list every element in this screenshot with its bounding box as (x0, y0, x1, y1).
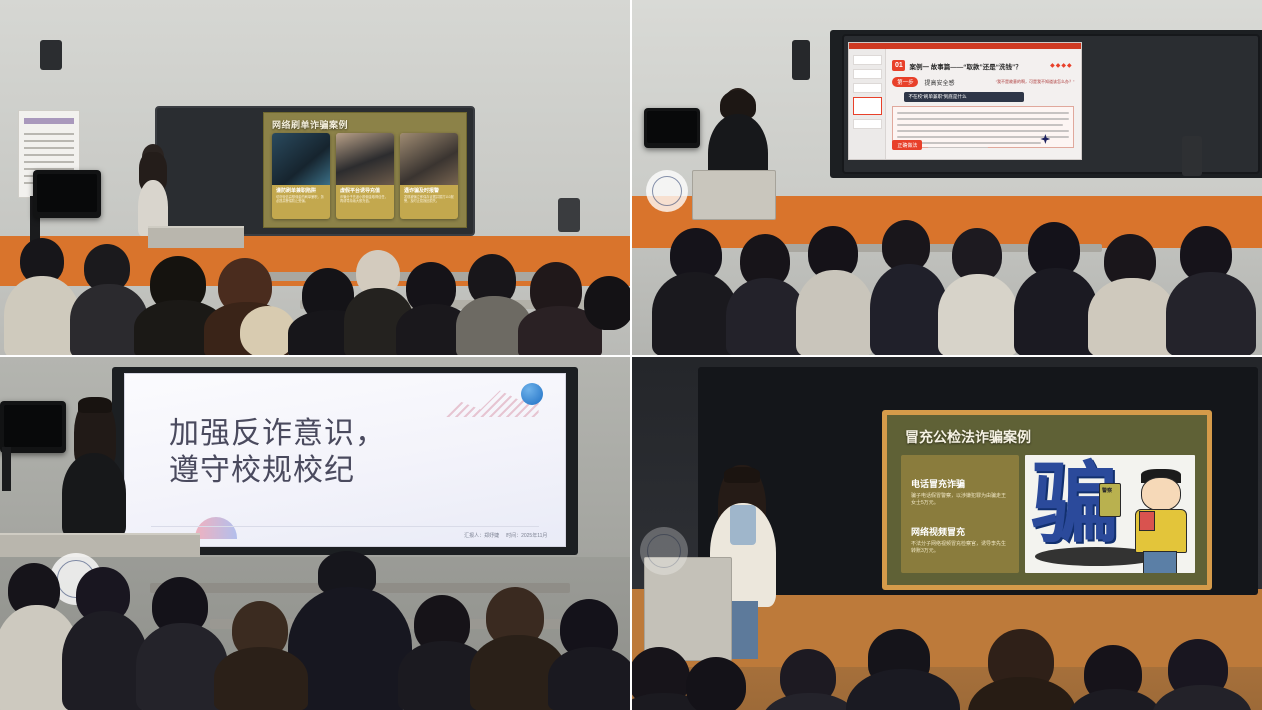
audience-body (726, 278, 806, 355)
lecture-hall-scene-2: 01 案例一 故事篇——“取款”还是“洗钱”？ ◆◆◆◆ 第一步 提高安全感 “… (632, 0, 1262, 355)
photo-collage: 网络刷单诈骗案例 谨防刷单兼职陷阱 切勿轻信高额佣金的刷单兼职，务必提高警惕防止… (0, 0, 1262, 710)
panel-top-right: 01 案例一 故事篇——“取款”还是“洗钱”？ ◆◆◆◆ 第一步 提高安全感 “… (632, 0, 1262, 355)
audience-group (0, 357, 630, 710)
lecture-hall-scene-4: 冒充公检法诈骗案例 电话冒充诈骗 骗子电话假冒警察，以涉嫌犯罪为由骗走王女士5万… (632, 357, 1262, 710)
audience-body (870, 264, 948, 355)
audience-group (632, 0, 1262, 355)
audience-body (1152, 685, 1252, 710)
audience-body (548, 647, 630, 710)
audience-body (968, 677, 1076, 710)
panel-bottom-right: 冒充公检法诈骗案例 电话冒充诈骗 骗子电话假冒警察，以涉嫌犯罪为由骗走王女士5万… (632, 357, 1262, 710)
audience-group (0, 0, 630, 355)
panel-bottom-left: 加强反诈意识， 遵守校规校纪 汇报人：郑妤婕 时间：2025年11月 (0, 357, 630, 710)
audience-head (686, 657, 746, 710)
audience-group (632, 357, 1262, 710)
audience-body (1068, 689, 1162, 710)
audience-head (584, 276, 630, 330)
audience-body (4, 276, 80, 355)
audience-body (796, 270, 874, 355)
audience-body (1088, 278, 1176, 355)
audience-body (1166, 272, 1256, 355)
lecture-hall-scene-1: 网络刷单诈骗案例 谨防刷单兼职陷阱 切勿轻信高额佣金的刷单兼职，务必提高警惕防止… (0, 0, 630, 355)
audience-body (1014, 268, 1098, 355)
panel-top-left: 网络刷单诈骗案例 谨防刷单兼职陷阱 切勿轻信高额佣金的刷单兼职，务必提高警惕防止… (0, 0, 630, 355)
audience-body (938, 274, 1018, 355)
audience-body (214, 647, 308, 710)
audience-body (846, 669, 960, 710)
lecture-hall-scene-3: 加强反诈意识， 遵守校规校纪 汇报人：郑妤婕 时间：2025年11月 (0, 357, 630, 710)
audience-body (762, 693, 858, 710)
